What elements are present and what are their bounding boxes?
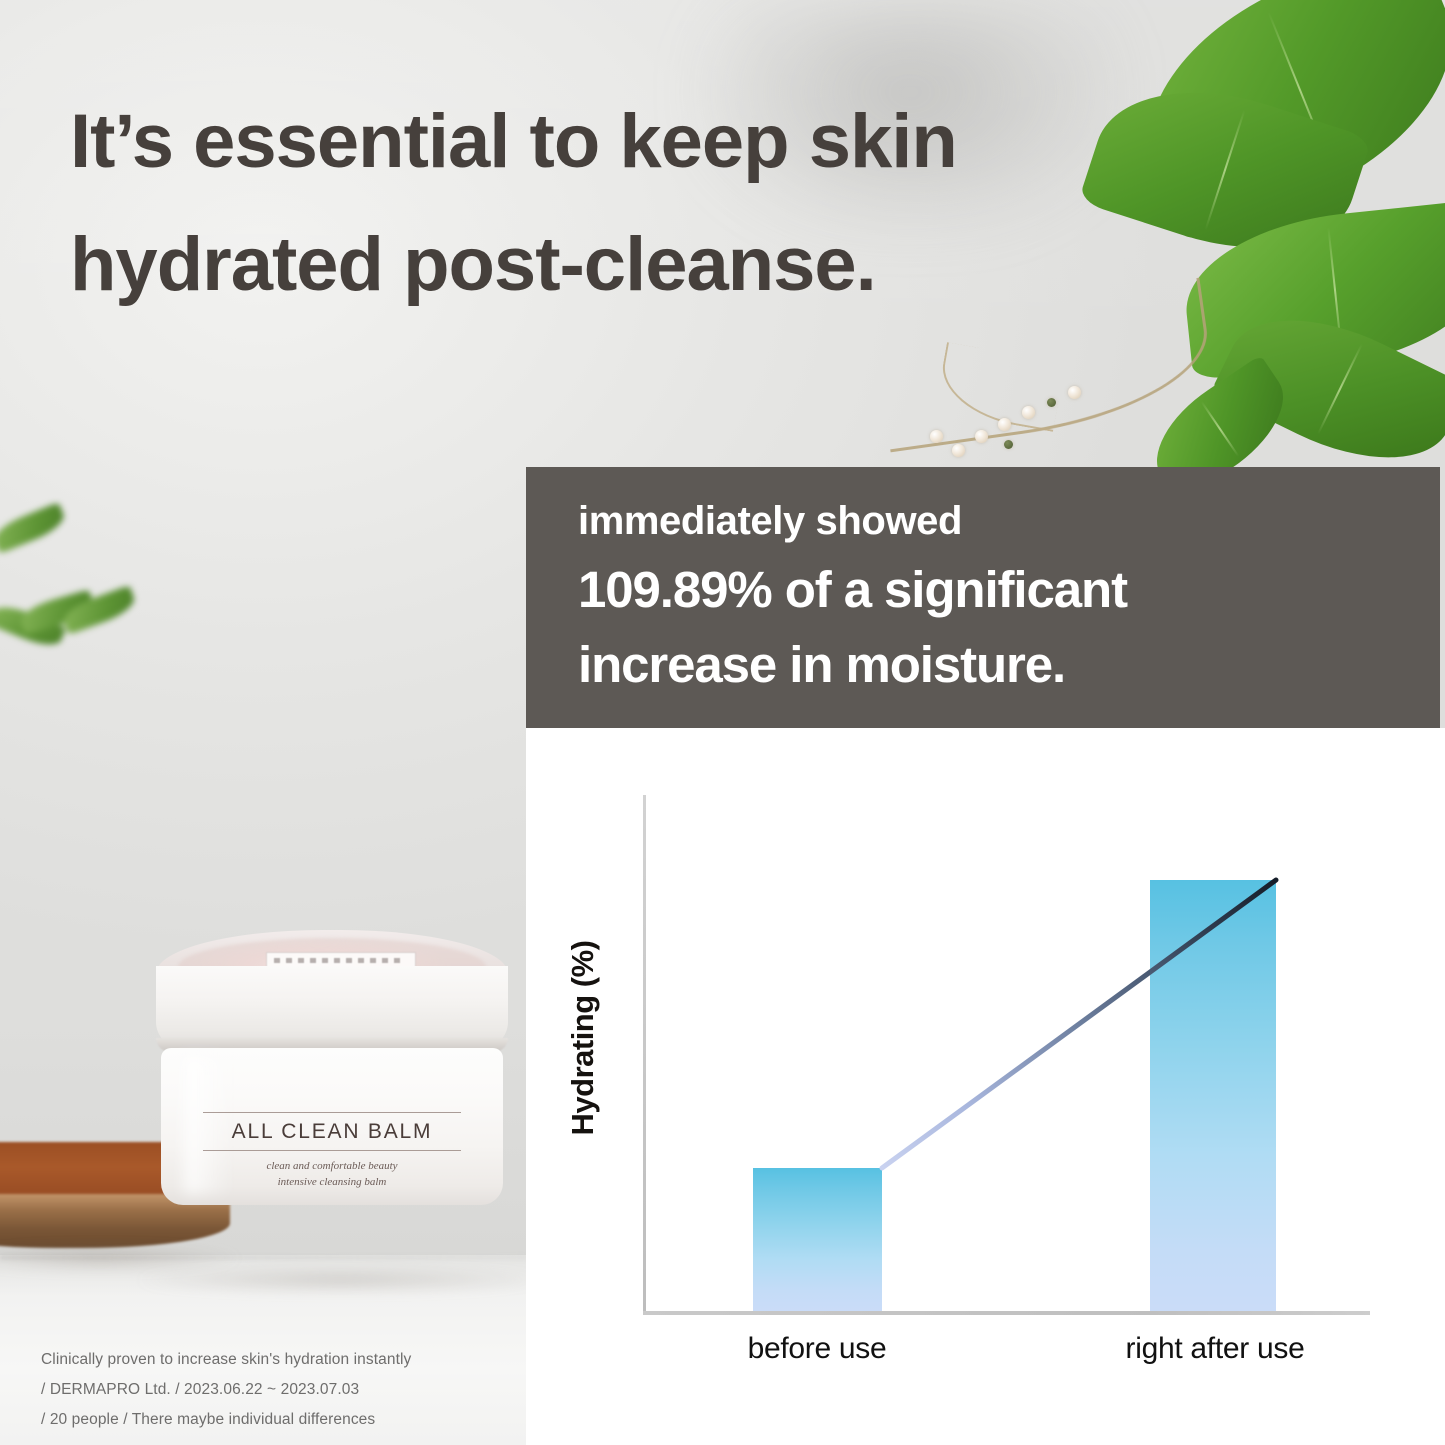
- headline-line-1: It’s essential to keep skin: [70, 80, 1200, 203]
- callout-main-line-2: increase in moisture.: [578, 628, 1440, 703]
- bar-chart: Hydrating (%) before use right after use: [526, 728, 1445, 1445]
- leaf-vein: [1205, 110, 1246, 230]
- callout-content: immediately showed 109.89% of a signific…: [526, 467, 1440, 703]
- callout-main-line-1: 109.89% of a significant: [578, 553, 1440, 628]
- product-tagline-line-2: intensive cleansing balm: [278, 1176, 387, 1188]
- flower-bud-icon: [1068, 386, 1081, 399]
- flower-bud-icon: [998, 418, 1011, 431]
- sprig-decoration: [0, 505, 190, 695]
- leaf-icon: [0, 502, 68, 554]
- flower-bud-icon: [1004, 440, 1013, 449]
- bar-right-after-use: [1150, 880, 1276, 1311]
- flower-bud-icon: [930, 430, 943, 443]
- x-axis-line: [643, 1311, 1370, 1315]
- headline-line-2: hydrated post-cleanse.: [70, 203, 1200, 326]
- y-axis-line: [643, 795, 646, 1311]
- flower-bud-icon: [952, 444, 965, 457]
- flower-bud-icon: [1047, 398, 1056, 407]
- product-tagline: clean and comfortable beauty intensive c…: [161, 1151, 503, 1191]
- x-axis-tick-right-after-use: right after use: [1088, 1332, 1342, 1366]
- callout-subheading: immediately showed: [578, 497, 1440, 545]
- caption-line-3: / 20 people / There maybe individual dif…: [41, 1405, 521, 1435]
- flower-bud-icon: [975, 430, 988, 443]
- caption-line-2: / DERMAPRO Ltd. / 2023.06.22 ~ 2023.07.0…: [41, 1375, 521, 1405]
- jar-front-label: ALL CLEAN BALM clean and comfortable bea…: [161, 1112, 503, 1190]
- statistic-callout-box: immediately showed 109.89% of a signific…: [526, 467, 1440, 728]
- chart-panel: Hydrating (%) before use right after use: [526, 728, 1445, 1445]
- product-brand-name: ALL CLEAN BALM: [161, 1113, 503, 1150]
- callout-main-statement: 109.89% of a significant increase in moi…: [578, 545, 1440, 703]
- jar-lid-label-text-blur: [274, 958, 406, 963]
- caption-line-1: Clinically proven to increase skin's hyd…: [41, 1345, 521, 1375]
- leaf-vein: [1317, 344, 1362, 434]
- jar-lid-body: [156, 966, 508, 1048]
- page-title: It’s essential to keep skin hydrated pos…: [70, 80, 1200, 326]
- flower-bud-icon: [1022, 406, 1035, 419]
- jar-label-rule-bottom: [203, 1150, 461, 1151]
- product-tagline-line-1: clean and comfortable beauty: [266, 1160, 397, 1172]
- clinical-test-caption: Clinically proven to increase skin's hyd…: [41, 1345, 521, 1434]
- product-jar: ALL CLEAN BALM clean and comfortable bea…: [148, 930, 518, 1275]
- leaf-vein: [1201, 401, 1239, 456]
- bar-before-use: [753, 1168, 882, 1311]
- y-axis-label: Hydrating (%): [565, 913, 601, 1163]
- leaf-icon: [60, 585, 138, 635]
- x-axis-tick-before-use: before use: [714, 1332, 920, 1366]
- jar-label-rule-top: [203, 1112, 461, 1113]
